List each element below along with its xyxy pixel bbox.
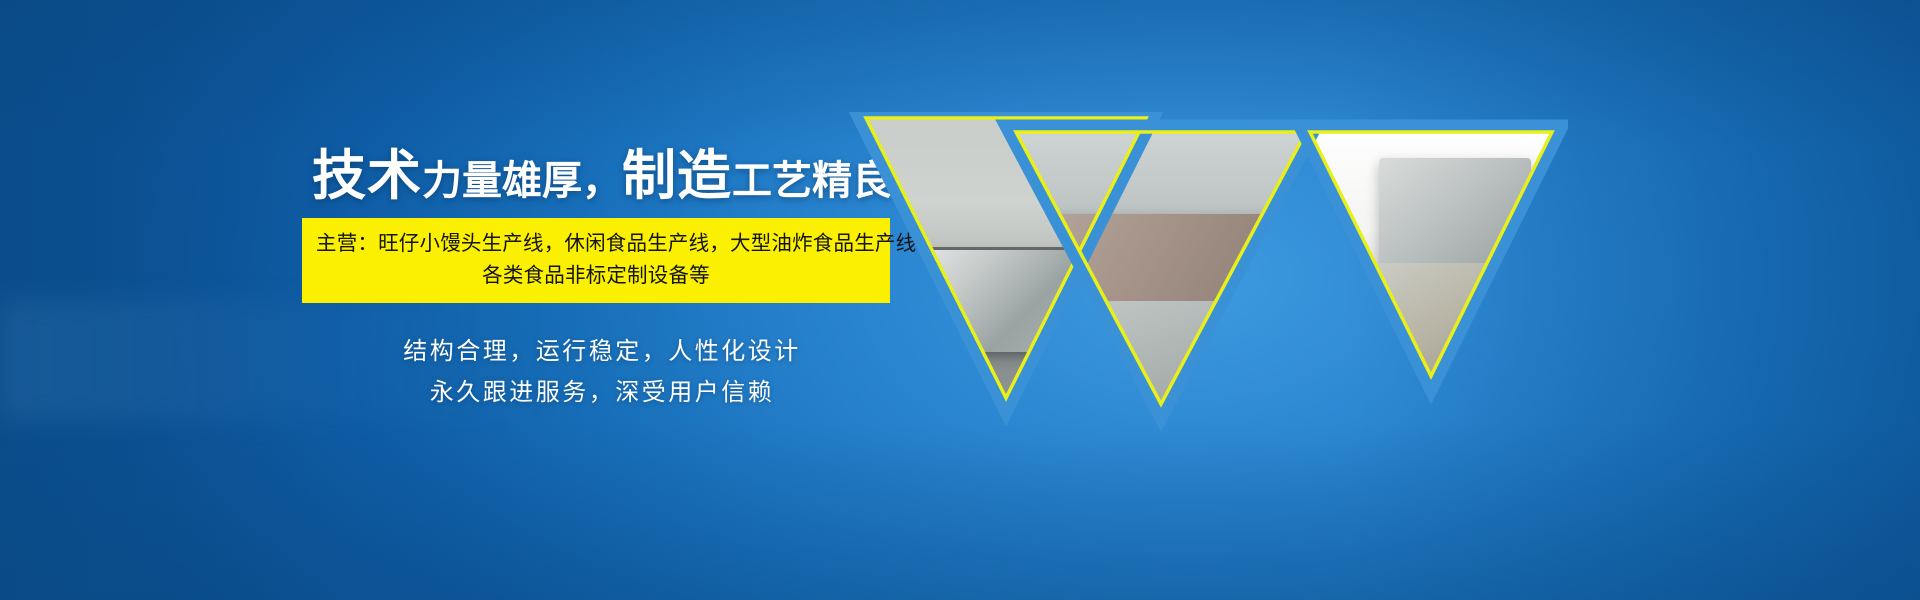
main-business-highlight-bar: 主营：旺仔小馒头生产线，休闲食品生产线，大型油炸食品生产线， 各类食品非标定制设…: [302, 218, 890, 303]
headline-part-2: 力量雄厚，: [422, 159, 622, 203]
headline-part-3: 制造: [622, 146, 732, 206]
main-business-line-1: 主营：旺仔小馒头生产线，休闲食品生产线，大型油炸食品生产线，: [316, 228, 876, 260]
tagline-1: 结构合理，运行稳定，人性化设计: [302, 331, 902, 372]
triangle-photo-collage: [848, 112, 1568, 432]
tagline-2: 永久跟进服务，深受用户信赖: [302, 372, 902, 413]
forming-machine-photo: [1300, 126, 1562, 390]
photo-tile-forming-machine: [1300, 126, 1562, 390]
hero-banner: 技术力量雄厚，制造工艺精良 主营：旺仔小馒头生产线，休闲食品生产线，大型油炸食品…: [0, 0, 1920, 600]
tagline-group: 结构合理，运行稳定，人性化设计 永久跟进服务，深受用户信赖: [302, 331, 902, 414]
banner-headline: 技术力量雄厚，制造工艺精良: [302, 148, 902, 205]
main-business-line-2: 各类食品非标定制设备等: [316, 260, 876, 292]
banner-text-block: 技术力量雄厚，制造工艺精良 主营：旺仔小馒头生产线，休闲食品生产线，大型油炸食品…: [302, 148, 902, 413]
headline-part-1: 技术: [312, 146, 422, 206]
